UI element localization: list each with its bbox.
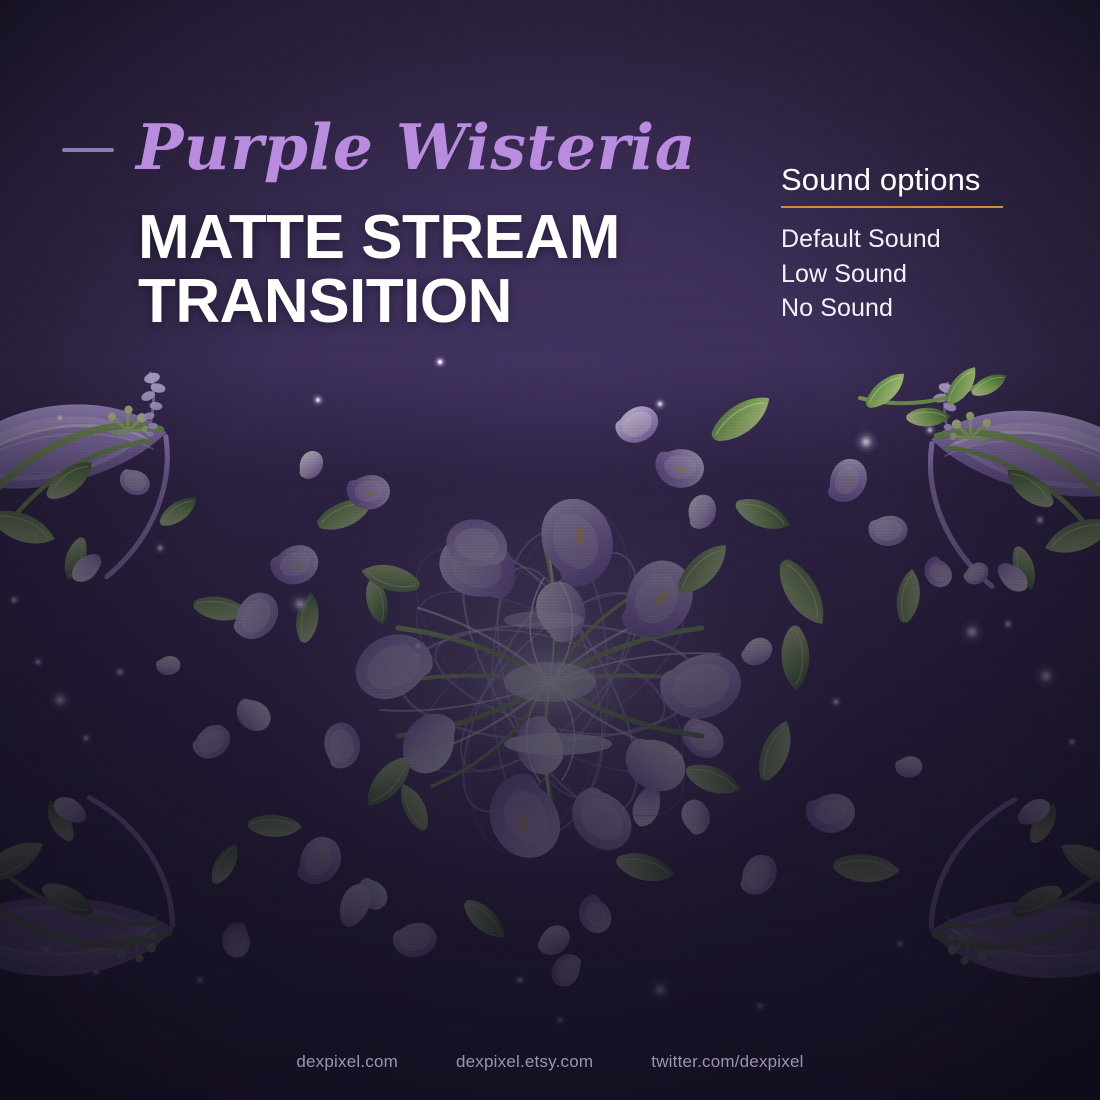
footer-links: dexpixel.com dexpixel.etsy.com twitter.c… xyxy=(0,1052,1100,1072)
footer-link-twitter[interactable]: twitter.com/dexpixel xyxy=(651,1052,803,1072)
header-section: Purple Wisteria MATTE STREAM TRANSITION … xyxy=(0,0,1100,370)
sound-options-list: Default Sound Low Sound No Sound xyxy=(781,222,1011,326)
top-right-cluster xyxy=(860,364,1100,632)
page-title: MATTE STREAM TRANSITION xyxy=(138,206,620,334)
sound-option-none[interactable]: No Sound xyxy=(781,291,1011,326)
sound-options-panel: Sound options Default Sound Low Sound No… xyxy=(781,163,1011,326)
dash-rule-icon xyxy=(62,148,114,152)
top-left-cluster xyxy=(0,371,175,622)
sound-options-divider xyxy=(781,206,1003,208)
product-name: Purple Wisteria xyxy=(136,116,696,179)
promo-banner: Purple Wisteria MATTE STREAM TRANSITION … xyxy=(0,0,1100,1100)
page-title-line2: TRANSITION xyxy=(138,270,620,334)
footer-link-website[interactable]: dexpixel.com xyxy=(296,1052,398,1072)
bottom-right-cluster xyxy=(918,748,1100,1020)
sound-options-title: Sound options xyxy=(781,163,1011,197)
kicker-row: Purple Wisteria xyxy=(62,118,696,181)
footer-link-etsy[interactable]: dexpixel.etsy.com xyxy=(456,1052,593,1072)
page-title-line1: MATTE STREAM xyxy=(138,203,620,272)
sound-option-default[interactable]: Default Sound xyxy=(781,222,1011,257)
sound-option-low[interactable]: Low Sound xyxy=(781,257,1011,292)
